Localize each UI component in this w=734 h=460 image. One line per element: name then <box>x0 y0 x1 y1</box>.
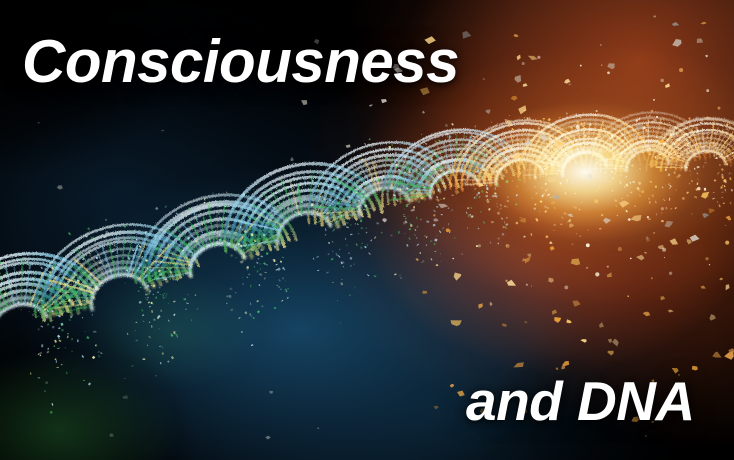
title-consciousness: Consciousness <box>22 30 459 94</box>
artwork-canvas: Consciousness and DNA <box>0 0 734 460</box>
title-and-dna: and DNA <box>466 372 695 430</box>
